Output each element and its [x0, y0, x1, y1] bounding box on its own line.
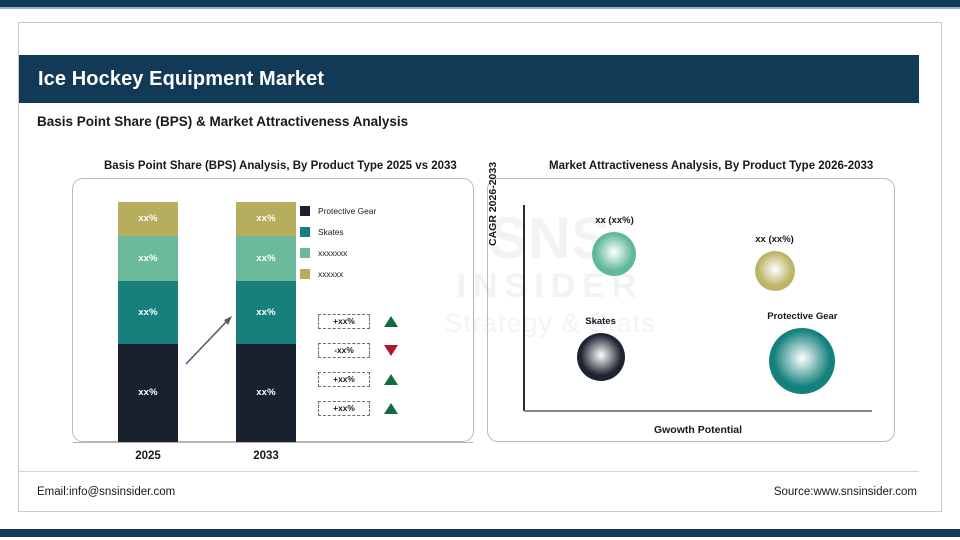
bar-segment-skates: xx%: [118, 281, 178, 343]
stacked-bar-2033: xx%xx%xx%xx%: [236, 202, 296, 442]
header-band: Ice Hockey Equipment Market: [19, 55, 919, 103]
bar-segment-skates: xx%: [236, 281, 296, 343]
bar-segment-xxxxxx: xx%: [236, 202, 296, 236]
legend-swatch-icon: [300, 227, 310, 237]
triangle-up-icon: [384, 403, 398, 414]
top-accent-bar: [0, 0, 960, 7]
bottom-accent-bar: [0, 529, 960, 537]
attractiveness-chart-title: Market Attractiveness Analysis, By Produ…: [549, 160, 873, 172]
bps-change-list: +xx%-xx%+xx%+xx%: [318, 312, 398, 428]
page-subtitle: Basis Point Share (BPS) & Market Attract…: [37, 114, 408, 129]
bubble-skates[interactable]: [577, 333, 625, 381]
triangle-up-icon: [384, 374, 398, 385]
bar-segment-xxxxxxx: xx%: [118, 236, 178, 282]
bubble-xx-xx-[interactable]: [755, 251, 795, 291]
bps-legend: Protective GearSkatesxxxxxxxxxxxxx: [300, 200, 410, 284]
bps-change-row: +xx%: [318, 399, 398, 417]
attractiveness-y-axis-label: CAGR 2026-2033: [487, 162, 499, 246]
growth-arrow-icon: [182, 312, 236, 368]
stacked-bar-2025: xx%xx%xx%xx%: [118, 202, 178, 442]
bps-change-value: -xx%: [318, 343, 370, 358]
top-accent-line: [0, 7, 960, 9]
legend-label: xxxxxxx: [318, 248, 347, 258]
legend-item[interactable]: Skates: [300, 221, 410, 242]
legend-label: Skates: [318, 227, 344, 237]
bps-change-row: +xx%: [318, 312, 398, 330]
bps-change-row: +xx%: [318, 370, 398, 388]
bar-segment-protective-gear: xx%: [118, 344, 178, 442]
bar-segment-xxxxxxx: xx%: [236, 236, 296, 282]
bubble-protective-gear[interactable]: [769, 328, 835, 394]
bps-change-row: -xx%: [318, 341, 398, 359]
legend-swatch-icon: [300, 248, 310, 258]
legend-item[interactable]: Protective Gear: [300, 200, 410, 221]
legend-label: Protective Gear: [318, 206, 376, 216]
legend-item[interactable]: xxxxxx: [300, 263, 410, 284]
bubble-label: Protective Gear: [767, 311, 837, 322]
page-title: Ice Hockey Equipment Market: [38, 68, 324, 91]
bar-segment-xxxxxx: xx%: [118, 202, 178, 236]
legend-swatch-icon: [300, 269, 310, 279]
attractiveness-y-axis: [523, 205, 525, 411]
bubble-label: xx (xx%): [755, 234, 794, 245]
axis-label-2025: 2025: [118, 450, 178, 462]
footer-divider: [19, 471, 919, 472]
footer-source: Source:www.snsinsider.com: [774, 486, 917, 498]
bar-segment-protective-gear: xx%: [236, 344, 296, 442]
bps-change-value: +xx%: [318, 314, 370, 329]
legend-label: xxxxxx: [318, 269, 343, 279]
attractiveness-x-axis: [524, 410, 872, 412]
footer-email: Email:info@snsinsider.com: [37, 486, 175, 498]
slide-canvas: Ice Hockey Equipment Market Basis Point …: [0, 0, 960, 540]
bubble-label: xx (xx%): [595, 215, 634, 226]
bubble-label: Skates: [585, 316, 616, 327]
attractiveness-x-axis-label: Gwowth Potential: [524, 424, 872, 436]
bps-chart-title: Basis Point Share (BPS) Analysis, By Pro…: [104, 160, 457, 172]
bps-axis-line: [73, 442, 473, 443]
bps-change-value: +xx%: [318, 372, 370, 387]
legend-item[interactable]: xxxxxxx: [300, 242, 410, 263]
legend-swatch-icon: [300, 206, 310, 216]
bps-change-value: +xx%: [318, 401, 370, 416]
axis-label-2033: 2033: [236, 450, 296, 462]
triangle-down-icon: [384, 345, 398, 356]
triangle-up-icon: [384, 316, 398, 327]
